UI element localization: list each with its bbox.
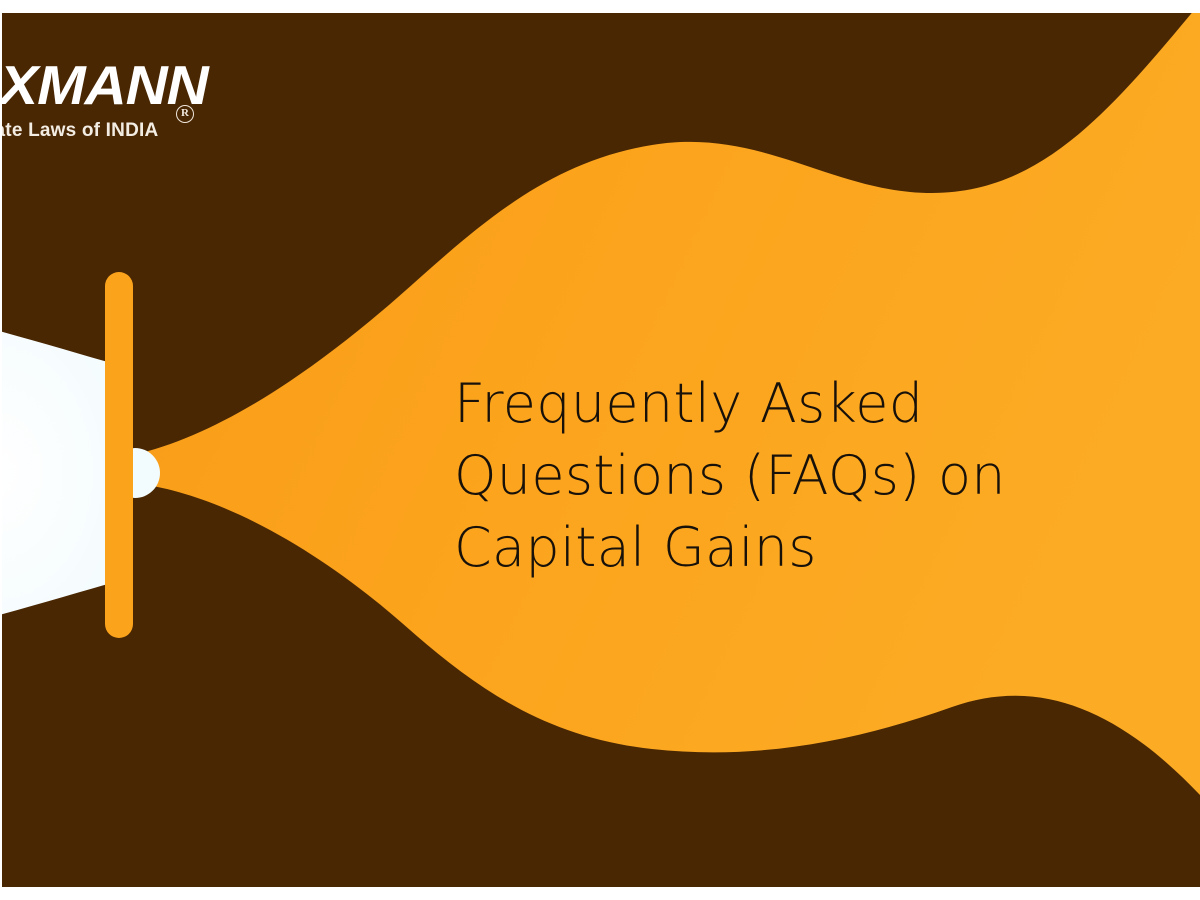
megaphone-horn — [2, 295, 118, 651]
logo-inner: TAXMANN R Corporate Laws of INDIA — [2, 57, 217, 142]
banner-canvas: TAXMANN R Corporate Laws of INDIA Freque… — [2, 13, 1200, 887]
headline-line-2: Questions (FAQs) on — [454, 440, 1094, 512]
faq-banner: TAXMANN R Corporate Laws of INDIA Freque… — [0, 0, 1200, 900]
headline-line-1: Frequently Asked — [454, 368, 1094, 440]
taxmann-logo[interactable]: TAXMANN R Corporate Laws of INDIA — [2, 13, 217, 173]
logo-wordmark: TAXMANN — [2, 57, 208, 113]
megaphone-rim-bar — [105, 272, 133, 638]
registered-trademark-icon: R — [176, 105, 194, 123]
page-title: Frequently Asked Questions (FAQs) on Cap… — [454, 368, 1094, 584]
headline-line-3: Capital Gains — [454, 512, 1094, 584]
logo-tagline: Corporate Laws of INDIA — [2, 120, 217, 142]
